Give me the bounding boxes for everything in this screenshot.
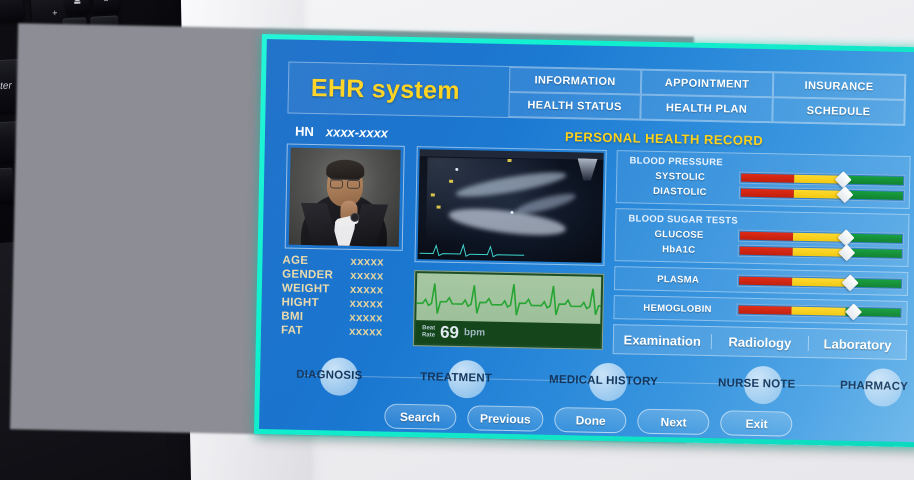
circle-nav-label: TREATMENT (420, 371, 492, 384)
gauge-glucose[interactable] (738, 230, 904, 245)
ultrasound-ecg-trace (418, 241, 602, 261)
vitals-row: HIGHT xxxxx (281, 296, 411, 311)
gauge-marker[interactable] (835, 171, 852, 188)
key-label: 2 (104, 0, 109, 3)
gauge-bar (741, 174, 903, 185)
nav-item-insurance[interactable]: INSURANCE (773, 72, 905, 100)
vitals-value: xxxxx (350, 270, 384, 283)
gauge-bar (739, 277, 901, 288)
gauge-segment-yellow (792, 307, 846, 316)
gauge-segment-green (848, 176, 903, 185)
ultrasound-panel[interactable] (414, 146, 606, 266)
measurement-row-diastolic: DIASTOLIC (621, 184, 905, 202)
section-plasma: PLASMA (614, 266, 908, 296)
ultrasound-scale-tick (507, 159, 511, 162)
measurements-column: BLOOD PRESSURE SYSTOLIC (613, 150, 911, 360)
tablet-bezel: EHR system INFORMATION APPOINTMENT INSUR… (254, 34, 914, 447)
exit-button[interactable]: Exit (720, 410, 792, 436)
gauge-segment-red (741, 189, 795, 198)
gauge-plasma[interactable] (737, 275, 903, 290)
measurement-label: PLASMA (619, 273, 737, 286)
screenshot-scene: − + p Enter ⏏ 2 ● ⏮ ⏯ ⏭ ⏹ (0, 0, 914, 480)
section-blood-pressure: BLOOD PRESSURE SYSTOLIC (616, 150, 911, 209)
section-hemoglobin: HEMOGLOBIN (613, 295, 907, 325)
gauge-hemoglobin[interactable] (736, 304, 902, 319)
gauge-systolic[interactable] (739, 172, 905, 187)
vitals-key: HIGHT (281, 296, 349, 309)
vitals-row: BMI xxxxx (281, 310, 411, 325)
tab-laboratory[interactable]: Laboratory (809, 336, 906, 353)
search-button[interactable]: Search (384, 404, 456, 430)
page-title: PERSONAL HEALTH RECORD (565, 129, 764, 148)
key-minus[interactable]: − (0, 0, 24, 24)
ultrasound-marker (455, 168, 458, 171)
vitals-row: GENDER xxxxx (282, 268, 412, 283)
ultrasound-scale-tick (449, 180, 453, 183)
vitals-value: xxxxx (350, 284, 384, 297)
beat-rate-label: Beat Rate (422, 325, 435, 338)
gauge-segment-yellow (793, 278, 847, 287)
hospital-number: HN xxxx-xxxx (295, 124, 388, 141)
nav-item-appointment[interactable]: APPOINTMENT (641, 70, 773, 98)
ultrasound-scale-tick (437, 206, 441, 209)
gauge-segment-red (739, 277, 793, 286)
ecg-trace (416, 273, 601, 324)
gauge-bar (740, 232, 902, 243)
gauge-segment-green (847, 249, 902, 258)
section-blood-sugar-tests: BLOOD SUGAR TESTS GLUCOSE (615, 208, 910, 267)
nav-item-schedule[interactable]: SCHEDULE (772, 97, 904, 125)
circle-nav-label: NURSE NOTE (718, 377, 796, 391)
circle-nav-label: DIAGNOSIS (296, 369, 363, 382)
glasses-icon (330, 178, 360, 187)
vitals-key: AGE (282, 254, 350, 267)
measurement-label: SYSTOLIC (621, 170, 739, 183)
gauge-bar (738, 306, 900, 317)
patient-vitals-list: AGE xxxxx GENDER xxxxx WEIGHT xxxxx HIGH… (281, 254, 413, 341)
vitals-row: WEIGHT xxxxx (282, 282, 412, 297)
gauge-hba1c[interactable] (738, 245, 904, 260)
eject-icon: ⏏ (73, 0, 81, 5)
key-eject[interactable]: ⏏ (64, 0, 89, 14)
vitals-value: xxxxx (349, 298, 383, 311)
ultrasound-image (418, 149, 604, 263)
result-tabs: Examination Radiology Laboratory (613, 324, 908, 360)
photo-hair (326, 159, 364, 180)
beat-rate-unit: bpm (464, 327, 485, 338)
key-ctrl[interactable] (0, 168, 14, 206)
measurement-row-plasma: PLASMA (619, 272, 903, 290)
gauge-segment-red (740, 247, 794, 256)
gauge-segment-red (738, 306, 792, 315)
vitals-key: GENDER (282, 268, 350, 281)
nav-item-health-status[interactable]: HEALTH STATUS (508, 92, 640, 120)
nav-item-information[interactable]: INFORMATION (509, 67, 641, 95)
vitals-key: FAT (281, 324, 349, 337)
key-function-2[interactable]: 2 (92, 0, 120, 13)
beat-rate-value: 69 (440, 322, 459, 342)
app-header: EHR system INFORMATION APPOINTMENT INSUR… (287, 62, 906, 126)
ultrasound-scale-tick (431, 193, 435, 196)
ultrasound-probe-icon (577, 158, 597, 180)
gauge-diastolic[interactable] (739, 187, 905, 202)
tab-examination[interactable]: Examination (614, 332, 712, 349)
vitals-row: AGE xxxxx (282, 254, 412, 269)
measurement-row-hba1c: HbA1C (620, 242, 904, 260)
vitals-row: FAT xxxxx (281, 324, 411, 339)
heart-rate-readout: Beat Rate 69 bpm (416, 320, 600, 347)
vitals-key: WEIGHT (282, 282, 350, 295)
gauge-bar (741, 189, 903, 200)
circle-nav-label: PHARMACY (840, 380, 908, 393)
heart-rate-panel: Beat Rate 69 bpm (413, 270, 604, 350)
hn-label: HN (295, 124, 314, 139)
measurement-label: DIASTOLIC (621, 185, 739, 198)
gauge-marker[interactable] (838, 244, 855, 261)
gauge-bar (740, 247, 902, 258)
done-button[interactable]: Done (554, 407, 626, 433)
ultrasound-marker (510, 211, 513, 214)
measurement-label: HEMOGLOBIN (618, 302, 736, 315)
vitals-value: xxxxx (350, 256, 384, 269)
nav-item-health-plan[interactable]: HEALTH PLAN (640, 95, 772, 123)
measurement-label: GLUCOSE (620, 228, 738, 241)
main-nav: INFORMATION APPOINTMENT INSURANCE HEALTH… (508, 67, 905, 125)
measurement-label: HbA1C (620, 243, 738, 256)
measurement-row-hemoglobin: HEMOGLOBIN (618, 301, 902, 319)
gauge-marker[interactable] (841, 274, 858, 291)
gauge-segment-red (740, 232, 794, 241)
key-label: Enter (0, 80, 12, 92)
patient-photo (285, 144, 405, 251)
tab-radiology[interactable]: Radiology (711, 334, 809, 351)
gauge-marker[interactable] (845, 303, 862, 320)
gauge-segment-red (741, 174, 795, 183)
key-label: + (52, 8, 58, 18)
vitals-value: xxxxx (349, 312, 383, 325)
circle-nav-label: MEDICAL HISTORY (549, 374, 658, 388)
previous-button[interactable]: Previous (467, 405, 544, 432)
hn-value: xxxx-xxxx (326, 124, 388, 140)
vitals-value: xxxxx (349, 326, 383, 339)
ecg-waveform (416, 273, 601, 324)
gauge-segment-green (848, 191, 903, 200)
patient-photo-image (289, 148, 401, 247)
vitals-key: BMI (281, 310, 349, 323)
beat-rate-label-line2: Rate (422, 332, 435, 339)
gauge-segment-green (847, 234, 902, 243)
next-button[interactable]: Next (637, 409, 709, 435)
app-title: EHR system (288, 63, 509, 117)
ehr-screen: EHR system INFORMATION APPOINTMENT INSUR… (259, 39, 914, 442)
gauge-marker[interactable] (836, 186, 853, 203)
